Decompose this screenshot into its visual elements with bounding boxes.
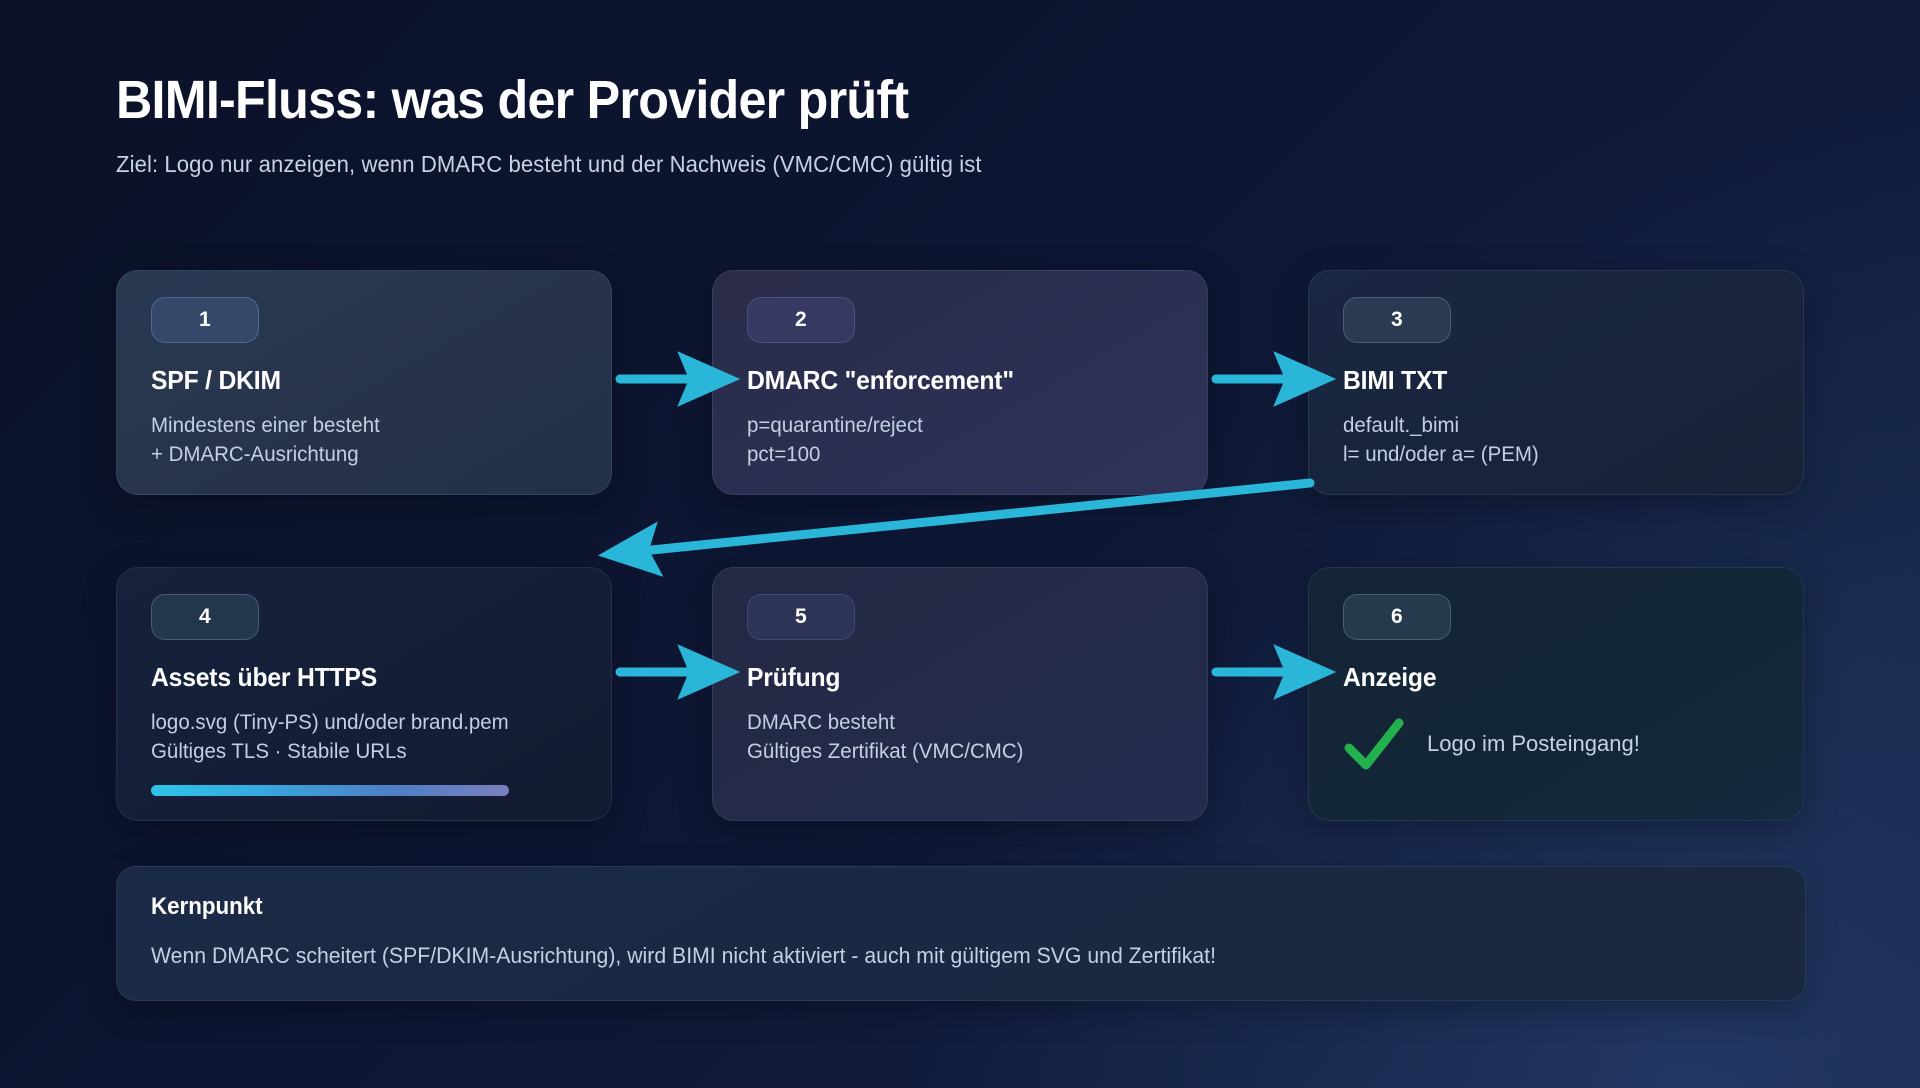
step-detail-line: pct=100 (747, 441, 1166, 470)
page-title: BIMI-Fluss: was der Provider prüft (116, 72, 1418, 129)
keypoint-title: Kernpunkt (151, 893, 1658, 921)
keypoint-body: Wenn DMARC scheitert (SPF/DKIM-Ausrichtu… (151, 943, 1714, 969)
step-detail-line: logo.svg (Tiny-PS) und/oder brand.pem (151, 709, 570, 738)
steps-grid: 1 SPF / DKIM Mindestens einer besteht + … (116, 270, 1806, 821)
step-number-badge: 2 (747, 297, 855, 343)
steps-row-bottom: 4 Assets über HTTPS logo.svg (Tiny-PS) u… (116, 567, 1806, 821)
step-title: Assets über HTTPS (151, 662, 560, 693)
step-details: DMARC besteht Gültiges Zertifikat (VMC/C… (747, 709, 1177, 767)
step-card-6[interactable]: 6 Anzeige Logo im Posteingang! (1308, 567, 1804, 821)
checkmark-icon (1343, 715, 1405, 773)
step-detail-line: default._bimi (1343, 412, 1762, 441)
step-detail-line: Gültiges Zertifikat (VMC/CMC) (747, 738, 1166, 767)
diagram-canvas: BIMI-Fluss: was der Provider prüft Ziel:… (0, 0, 1920, 1088)
step-detail-line: Mindestens einer besteht (151, 412, 570, 441)
step-card-2[interactable]: 2 DMARC "enforcement" p=quarantine/rejec… (712, 270, 1208, 495)
steps-row-top: 1 SPF / DKIM Mindestens einer besteht + … (116, 270, 1806, 495)
header: BIMI-Fluss: was der Provider prüft Ziel:… (116, 72, 1516, 178)
success-result: Logo im Posteingang! (1343, 715, 1773, 773)
step-detail-line: DMARC besteht (747, 709, 1166, 738)
step-details: p=quarantine/reject pct=100 (747, 412, 1177, 470)
step-number-badge: 5 (747, 594, 855, 640)
step-number-badge: 4 (151, 594, 259, 640)
step-detail-line: Gültiges TLS · Stabile URLs (151, 738, 570, 767)
step-card-5[interactable]: 5 Prüfung DMARC besteht Gültiges Zertifi… (712, 567, 1208, 821)
progress-bar (151, 785, 509, 796)
step-number-badge: 3 (1343, 297, 1451, 343)
step-details: default._bimi l= und/oder a= (PEM) (1343, 412, 1773, 470)
step-number-badge: 6 (1343, 594, 1451, 640)
step-card-3[interactable]: 3 BIMI TXT default._bimi l= und/oder a= … (1308, 270, 1804, 495)
step-detail-line: p=quarantine/reject (747, 412, 1166, 441)
step-details: logo.svg (Tiny-PS) und/oder brand.pem Gü… (151, 709, 581, 767)
step-title: BIMI TXT (1343, 365, 1752, 396)
step-card-4[interactable]: 4 Assets über HTTPS logo.svg (Tiny-PS) u… (116, 567, 612, 821)
step-title: SPF / DKIM (151, 365, 560, 396)
step-title: Anzeige (1343, 662, 1752, 693)
success-label: Logo im Posteingang! (1427, 731, 1640, 757)
step-title: Prüfung (747, 662, 1156, 693)
step-title: DMARC "enforcement" (747, 365, 1156, 396)
step-number-badge: 1 (151, 297, 259, 343)
keypoint-panel: Kernpunkt Wenn DMARC scheitert (SPF/DKIM… (116, 866, 1806, 1001)
step-detail-line: + DMARC-Ausrichtung (151, 441, 570, 470)
step-details: Mindestens einer besteht + DMARC-Ausrich… (151, 412, 581, 470)
step-card-1[interactable]: 1 SPF / DKIM Mindestens einer besteht + … (116, 270, 612, 495)
page-subtitle: Ziel: Logo nur anzeigen, wenn DMARC best… (116, 151, 1460, 178)
step-detail-line: l= und/oder a= (PEM) (1343, 441, 1762, 470)
